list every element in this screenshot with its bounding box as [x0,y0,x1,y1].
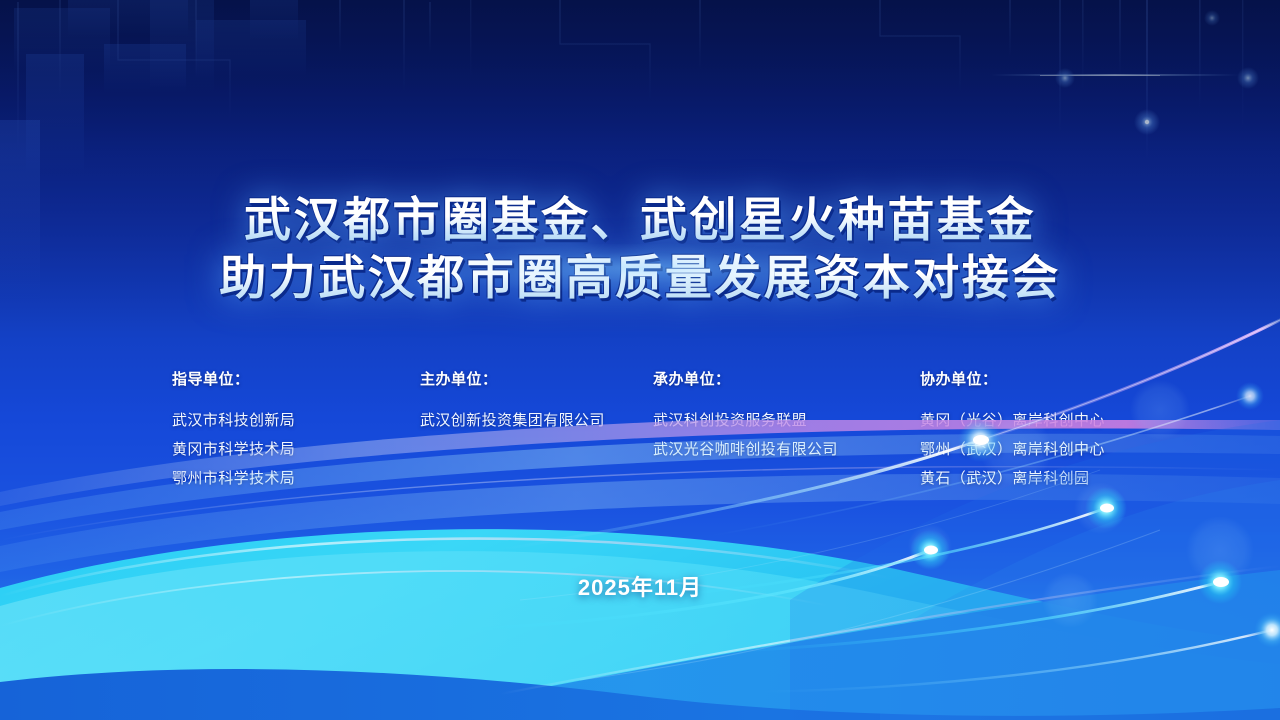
org-column-guidance: 指导单位： 武汉市科技创新局 黄冈市科学技术局 鄂州市科学技术局 [172,370,295,493]
org-item: 武汉创新投资集团有限公司 [420,406,605,435]
org-header: 指导单位： [172,370,295,390]
title-line-1: 武汉都市圈基金、武创星火种苗基金 [0,192,1280,250]
poster-title: 武汉都市圈基金、武创星火种苗基金 助力武汉都市圈高质量发展资本对接会 [0,192,1280,308]
org-item: 武汉市科技创新局 [172,406,295,435]
light-streaks [460,300,1280,720]
org-item: 黄冈（光谷）离岸科创中心 [920,406,1105,435]
event-poster: 武汉都市圈基金、武创星火种苗基金 助力武汉都市圈高质量发展资本对接会 指导单位：… [0,0,1280,720]
organizations: 指导单位： 武汉市科技创新局 黄冈市科学技术局 鄂州市科学技术局 主办单位： 武… [0,370,1280,510]
org-item: 武汉光谷咖啡创投有限公司 [653,435,838,464]
title-glow [430,244,850,292]
org-item: 鄂州（武汉）离岸科创中心 [920,435,1105,464]
org-item: 鄂州市科学技术局 [172,464,295,493]
title-line-2: 助力武汉都市圈高质量发展资本对接会 [0,250,1280,308]
org-item: 黄石（武汉）离岸科创园 [920,464,1105,493]
org-column-organizer: 承办单位： 武汉科创投资服务联盟 武汉光谷咖啡创投有限公司 [653,370,838,464]
org-header: 承办单位： [653,370,838,390]
org-item: 武汉科创投资服务联盟 [653,406,838,435]
org-item: 黄冈市科学技术局 [172,435,295,464]
org-column-host: 主办单位： 武汉创新投资集团有限公司 [420,370,605,435]
top-vignette [0,0,1280,340]
org-header: 协办单位： [920,370,1105,390]
org-header: 主办单位： [420,370,605,390]
event-date: 2025年11月 [0,570,1280,602]
org-column-coorganizer: 协办单位： 黄冈（光谷）离岸科创中心 鄂州（武汉）离岸科创中心 黄石（武汉）离岸… [920,370,1105,493]
tech-circuit-pattern [0,0,1280,330]
